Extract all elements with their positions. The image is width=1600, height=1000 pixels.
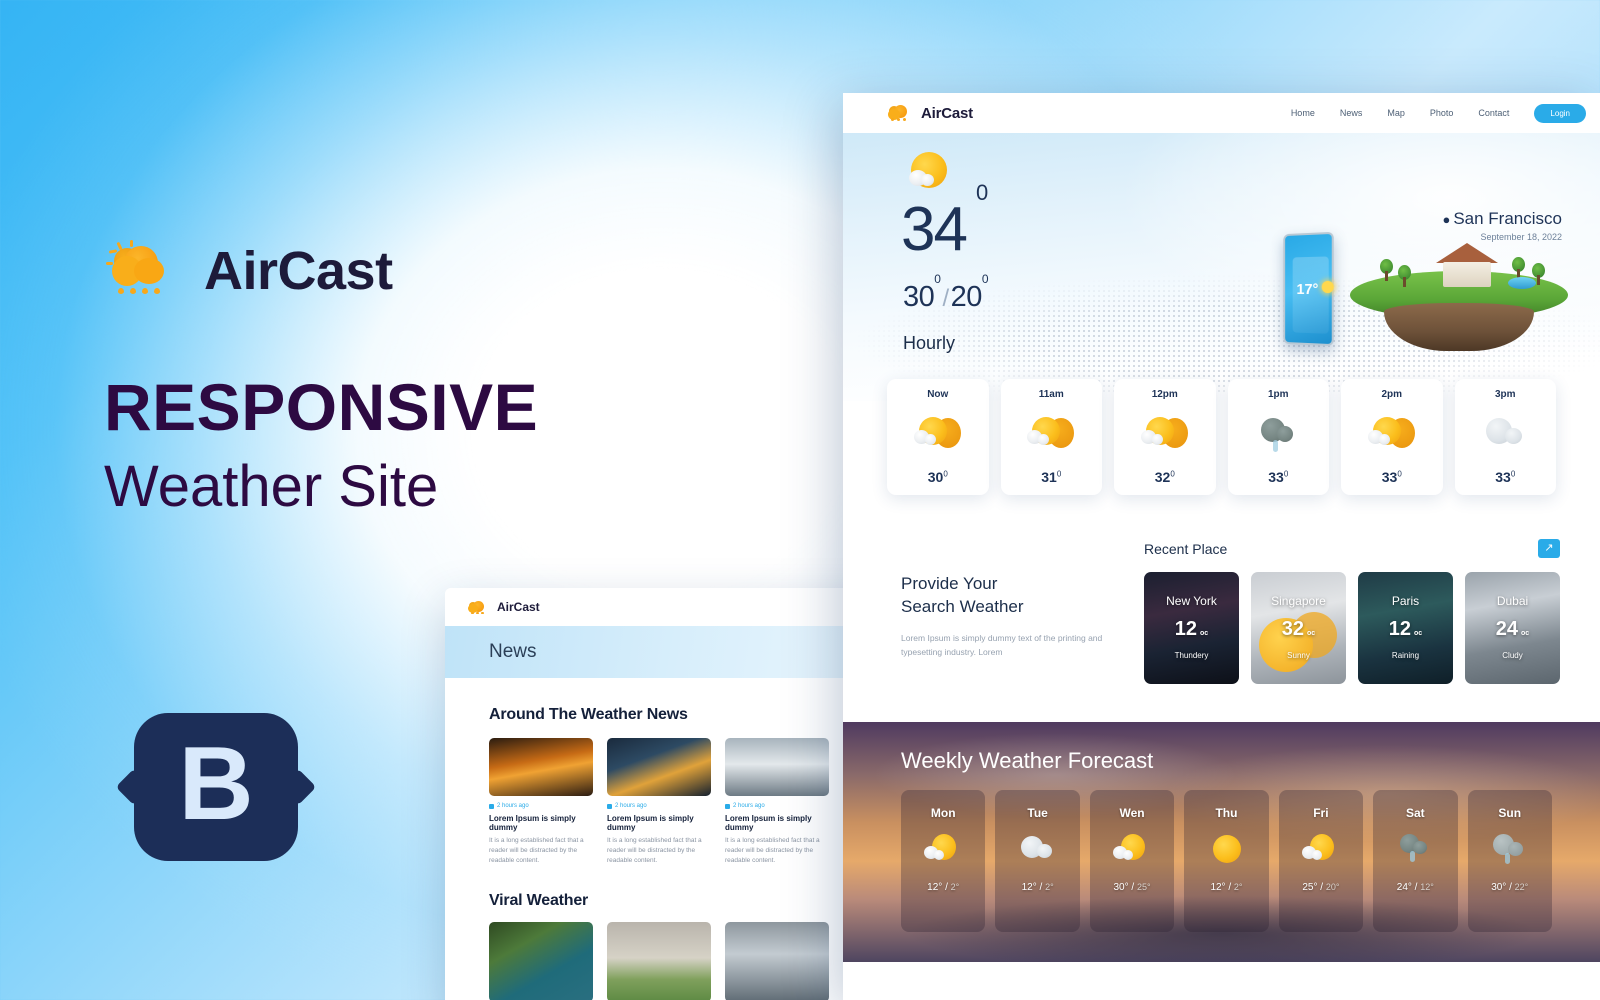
hourly-time: 12pm bbox=[1152, 389, 1178, 400]
tree-icon bbox=[1398, 265, 1411, 287]
weekly-forecast-section: Weekly Weather Forecast Mon 12° / 2° Tue… bbox=[843, 722, 1600, 962]
news-thumbnail bbox=[607, 738, 711, 796]
day-temps: 24° / 12° bbox=[1397, 882, 1434, 893]
current-temperature: 340 bbox=[901, 199, 978, 261]
place-card[interactable]: New York 12 oc Thundery bbox=[1144, 572, 1239, 684]
intro-panel: AirCast RESPONSIVE Weather Site bbox=[104, 240, 664, 519]
news-card-text: It is a long established fact that a rea… bbox=[607, 836, 711, 866]
day-name: Fri bbox=[1313, 806, 1328, 820]
hourly-card[interactable]: 2pm 330 bbox=[1341, 379, 1443, 495]
news-card-title: Lorem Ipsum is simply dummy bbox=[489, 814, 593, 832]
hourly-card[interactable]: 11am 310 bbox=[1001, 379, 1103, 495]
place-temp-value: 24 bbox=[1496, 618, 1518, 641]
place-temp-unit: oc bbox=[1414, 630, 1422, 637]
hourly-forecast-strip: Now 300 11am 310 12pm bbox=[843, 379, 1600, 495]
news-card-title: Lorem Ipsum is simply dummy bbox=[725, 814, 829, 832]
day-name: Mon bbox=[931, 806, 956, 820]
hourly-time: Now bbox=[927, 389, 948, 400]
page-subtitle: Weather Site bbox=[104, 455, 664, 519]
nav-item-contact[interactable]: Contact bbox=[1478, 108, 1509, 118]
search-title: Provide Your Search Weather bbox=[901, 573, 1126, 619]
news-brand-name: AirCast bbox=[497, 600, 540, 614]
nav-item-home[interactable]: Home bbox=[1291, 108, 1315, 118]
pool-shape bbox=[1508, 277, 1536, 289]
hourly-temp: 330 bbox=[1382, 469, 1402, 485]
news-card-text: It is a long established fact that a rea… bbox=[489, 836, 593, 866]
recent-place-label: Recent Place bbox=[1144, 541, 1227, 557]
sun-cloud-icon bbox=[1300, 832, 1342, 868]
phone-temperature: 17° bbox=[1296, 281, 1318, 298]
hourly-temp: 330 bbox=[1495, 469, 1515, 485]
news-hero-title: News bbox=[489, 641, 537, 663]
sun-icon bbox=[1205, 832, 1247, 868]
place-card[interactable]: Dubai 24 oc Cludy bbox=[1465, 572, 1560, 684]
sun-cloud-rain-icon bbox=[467, 600, 487, 615]
place-condition: Cludy bbox=[1502, 651, 1522, 660]
house-roof bbox=[1436, 243, 1498, 263]
search-copy: Provide Your Search Weather Lorem Ipsum … bbox=[901, 539, 1126, 684]
hero-section: 340 300/200 Hourly ●San Francisco Septem… bbox=[843, 133, 1600, 401]
search-title-line2: Search Weather bbox=[901, 596, 1126, 619]
hourly-time: 3pm bbox=[1495, 389, 1516, 400]
recent-place-cards: New York 12 oc Thundery Singapore 32 oc bbox=[1144, 572, 1560, 684]
calendar-icon bbox=[489, 804, 494, 809]
place-temperature: 12 oc bbox=[1389, 618, 1422, 641]
sun-cloud-rain-icon bbox=[887, 104, 911, 122]
day-temps: 25° / 20° bbox=[1302, 882, 1339, 893]
day-temps: 30° / 25° bbox=[1114, 882, 1151, 893]
hourly-card[interactable]: 3pm 330 bbox=[1455, 379, 1557, 495]
place-name: Paris bbox=[1392, 594, 1419, 608]
news-card-title: Lorem Ipsum is simply dummy bbox=[607, 814, 711, 832]
tree-icon bbox=[1380, 259, 1393, 281]
hourly-card[interactable]: 1pm 330 bbox=[1228, 379, 1330, 495]
news-thumbnail bbox=[489, 738, 593, 796]
hourly-card[interactable]: Now 300 bbox=[887, 379, 989, 495]
temperature-range: 300/200 bbox=[903, 281, 988, 314]
viral-thumbnail[interactable] bbox=[725, 922, 829, 1000]
place-temp-unit: oc bbox=[1521, 630, 1529, 637]
day-card[interactable]: Sat 24° / 12° bbox=[1373, 790, 1457, 932]
place-card[interactable]: Paris 12 oc Raining bbox=[1358, 572, 1453, 684]
day-card[interactable]: Mon 12° / 2° bbox=[901, 790, 985, 932]
nav-item-photo[interactable]: Photo bbox=[1430, 108, 1454, 118]
sun-cloud-rain-icon bbox=[104, 240, 190, 302]
bootstrap-letter: B bbox=[134, 713, 298, 861]
hourly-time: 11am bbox=[1039, 389, 1064, 400]
news-timestamp: 2 hours ago bbox=[733, 803, 765, 809]
search-body-text: Lorem Ipsum is simply dummy text of the … bbox=[901, 631, 1126, 660]
list-item[interactable]: 2 hours ago Lorem Ipsum is simply dummy … bbox=[725, 738, 829, 866]
rain-cloud-icon bbox=[1394, 832, 1436, 868]
news-thumbnail bbox=[725, 738, 829, 796]
hourly-temp: 300 bbox=[928, 469, 948, 485]
bootstrap-logo: B bbox=[134, 713, 298, 861]
news-meta: 2 hours ago bbox=[725, 803, 829, 809]
phone-mockup-image: 17° bbox=[1283, 232, 1333, 346]
place-condition: Raining bbox=[1392, 651, 1419, 660]
news-meta: 2 hours ago bbox=[607, 803, 711, 809]
recent-place-section: Recent Place ↗ New York 12 oc Thundery S… bbox=[1144, 539, 1560, 684]
arrow-up-right-icon[interactable]: ↗ bbox=[1538, 539, 1560, 558]
nav-item-news[interactable]: News bbox=[1340, 108, 1363, 118]
search-weather-section: Provide Your Search Weather Lorem Ipsum … bbox=[843, 495, 1600, 684]
page-title: RESPONSIVE bbox=[104, 374, 664, 441]
sun-cloud-icon bbox=[1365, 414, 1419, 456]
news-card-text: It is a long established fact that a rea… bbox=[725, 836, 829, 866]
sun-cloud-icon bbox=[1111, 832, 1153, 868]
day-name: Sun bbox=[1498, 806, 1521, 820]
rain-cloud-icon bbox=[1489, 832, 1531, 868]
day-card[interactable]: Wen 30° / 25° bbox=[1090, 790, 1174, 932]
hero-illustration: 17° bbox=[1252, 219, 1582, 359]
hourly-temp: 310 bbox=[1041, 469, 1061, 485]
day-temps: 12° / 2° bbox=[927, 882, 959, 893]
search-title-line1: Provide Your bbox=[901, 573, 1126, 596]
hourly-time: 1pm bbox=[1268, 389, 1289, 400]
floating-island-image bbox=[1340, 219, 1578, 355]
place-temperature: 24 oc bbox=[1496, 618, 1529, 641]
calendar-icon bbox=[725, 804, 730, 809]
day-name: Sat bbox=[1406, 806, 1425, 820]
news-meta: 2 hours ago bbox=[489, 803, 593, 809]
viral-thumbnail[interactable] bbox=[607, 922, 711, 1000]
sun-cloud-icon bbox=[911, 414, 965, 456]
place-name: Dubai bbox=[1497, 594, 1528, 608]
navbar: AirCast Home News Map Photo Contact Logi… bbox=[843, 93, 1600, 133]
day-temps: 30° / 22° bbox=[1491, 882, 1528, 893]
island-rock bbox=[1384, 303, 1534, 351]
day-name: Thu bbox=[1215, 806, 1237, 820]
brand-name: AirCast bbox=[204, 244, 393, 298]
place-temp-value: 32 bbox=[1282, 618, 1304, 641]
place-condition: Thundery bbox=[1175, 651, 1209, 660]
day-temps: 12° / 2° bbox=[1210, 882, 1242, 893]
hourly-temp: 330 bbox=[1268, 469, 1288, 485]
tree-icon bbox=[1512, 257, 1525, 279]
place-temperature: 32 oc bbox=[1282, 618, 1315, 641]
home-page-mockup: AirCast Home News Map Photo Contact Logi… bbox=[843, 93, 1600, 1000]
day-card[interactable]: Tue 12° / 2° bbox=[995, 790, 1079, 932]
house-body bbox=[1443, 262, 1491, 287]
day-temps: 12° / 2° bbox=[1022, 882, 1054, 893]
day-card[interactable]: Sun 30° / 22° bbox=[1468, 790, 1552, 932]
sun-behind-cloud-icon bbox=[905, 150, 953, 194]
weekly-forecast-title: Weekly Weather Forecast bbox=[843, 722, 1600, 774]
house-image bbox=[1436, 243, 1498, 287]
cloud-icon bbox=[1017, 832, 1059, 868]
list-item[interactable]: 2 hours ago Lorem Ipsum is simply dummy … bbox=[489, 738, 593, 866]
cloud-icon bbox=[1478, 414, 1532, 456]
list-item[interactable]: 2 hours ago Lorem Ipsum is simply dummy … bbox=[607, 738, 711, 866]
temp-high: 30 bbox=[903, 281, 934, 313]
place-temperature: 12 oc bbox=[1175, 618, 1208, 641]
viral-thumbnail[interactable] bbox=[489, 922, 593, 1000]
navbar-links: Home News Map Photo Contact Login bbox=[1291, 104, 1586, 123]
calendar-icon bbox=[607, 804, 612, 809]
hourly-temp: 320 bbox=[1155, 469, 1175, 485]
login-button[interactable]: Login bbox=[1534, 104, 1586, 123]
place-temp-value: 12 bbox=[1175, 618, 1197, 641]
temp-high-degree: 0 bbox=[934, 272, 940, 286]
day-name: Wen bbox=[1119, 806, 1144, 820]
hourly-time: 2pm bbox=[1381, 389, 1402, 400]
day-card[interactable]: Fri 25° / 20° bbox=[1279, 790, 1363, 932]
news-timestamp: 2 hours ago bbox=[497, 803, 529, 809]
day-name: Tue bbox=[1027, 806, 1047, 820]
news-timestamp: 2 hours ago bbox=[615, 803, 647, 809]
hourly-label: Hourly bbox=[903, 333, 955, 354]
temp-value: 34 bbox=[901, 195, 966, 264]
day-card[interactable]: Thu 12° / 2° bbox=[1184, 790, 1268, 932]
place-name: New York bbox=[1166, 594, 1217, 608]
brand-lockup: AirCast bbox=[104, 240, 664, 302]
place-temp-unit: oc bbox=[1307, 630, 1315, 637]
place-name: Singapore bbox=[1271, 594, 1326, 608]
place-condition: Sunny bbox=[1287, 651, 1310, 660]
navbar-brand: AirCast bbox=[921, 105, 973, 122]
rain-cloud-icon bbox=[1251, 414, 1305, 456]
temp-degree: 0 bbox=[976, 180, 988, 205]
sun-icon bbox=[1322, 281, 1334, 293]
place-temp-value: 12 bbox=[1389, 618, 1411, 641]
weekly-forecast-grid: Mon 12° / 2° Tue 12° / 2° Wen bbox=[843, 790, 1600, 932]
temp-low: 20 bbox=[951, 281, 982, 313]
place-temp-unit: oc bbox=[1200, 630, 1208, 637]
place-card[interactable]: Singapore 32 oc Sunny bbox=[1251, 572, 1346, 684]
range-separator: / bbox=[942, 285, 948, 312]
recent-place-header: Recent Place ↗ bbox=[1144, 539, 1560, 558]
sun-cloud-icon bbox=[1138, 414, 1192, 456]
nav-item-map[interactable]: Map bbox=[1387, 108, 1405, 118]
hourly-card[interactable]: 12pm 320 bbox=[1114, 379, 1216, 495]
sun-cloud-icon bbox=[922, 832, 964, 868]
temp-low-degree: 0 bbox=[982, 272, 988, 286]
sun-cloud-icon bbox=[1024, 414, 1078, 456]
